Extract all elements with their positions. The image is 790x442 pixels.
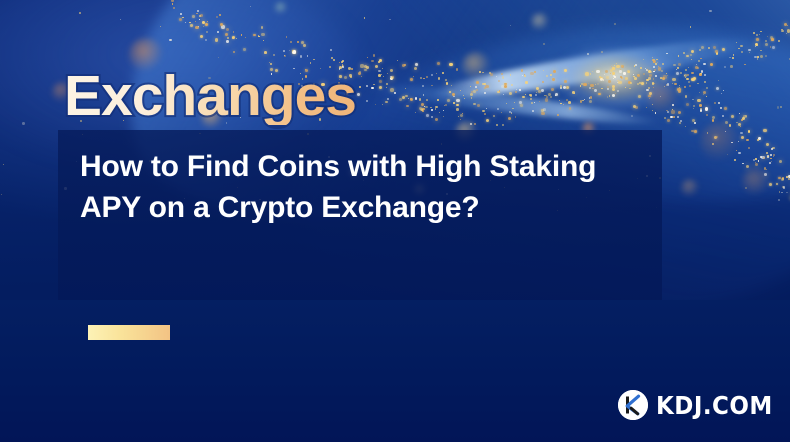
article-headline: How to Find Coins with High Staking APY …: [80, 146, 645, 229]
brand-logo[interactable]: KDJ.COM: [618, 390, 783, 420]
background-glow-core: [556, 46, 676, 110]
brand-mark-icon: [618, 390, 648, 420]
category-title: Exchanges: [64, 68, 356, 125]
accent-bar: [88, 325, 170, 340]
background-lower-fill: [0, 300, 790, 442]
brand-name: KDJ.COM: [656, 393, 773, 418]
article-banner: Exchanges Exchanges How to Find Coins wi…: [0, 0, 790, 442]
